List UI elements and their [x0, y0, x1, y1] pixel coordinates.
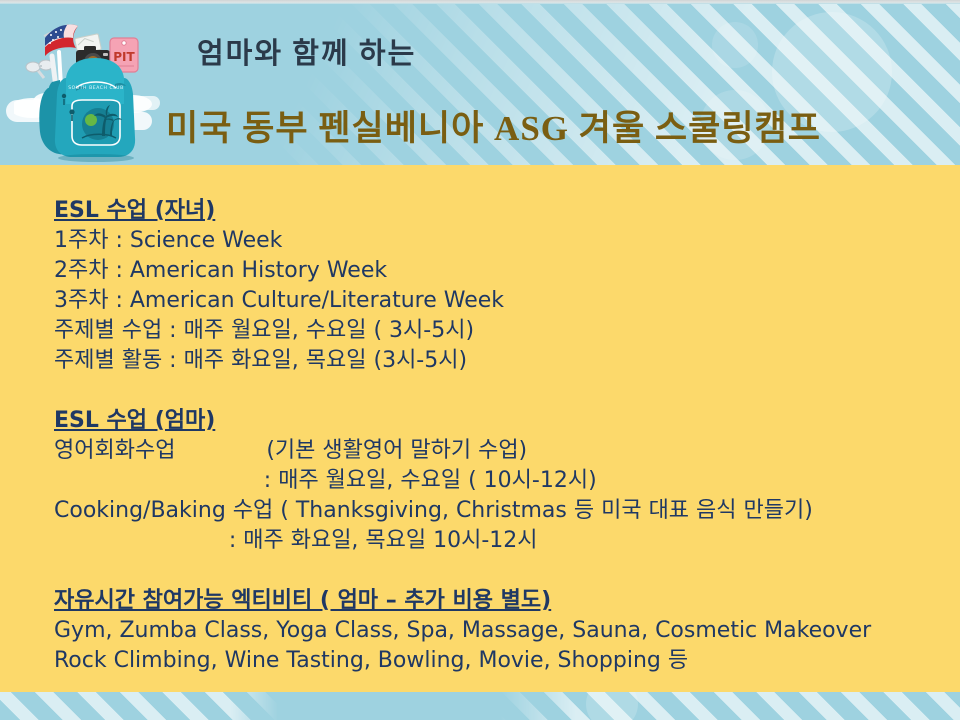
section-line: 2주차 : American History Week	[54, 256, 944, 286]
section-line: 주제별 수업 : 매주 월요일, 수요일 ( 3시-5시)	[54, 316, 944, 346]
svg-text:PIT: PIT	[113, 50, 135, 64]
section-spacer	[54, 556, 944, 586]
section-heading-esl-child: ESL 수업 (자녀)	[54, 196, 944, 226]
section-heading-esl-mom: ESL 수업 (엄마)	[54, 406, 944, 436]
presentation-slide: PIT	[0, 0, 960, 720]
section-line: Cooking/Baking 수업 ( Thanksgiving, Christ…	[54, 496, 944, 526]
decorative-circle	[712, 22, 758, 68]
section-line: Rock Climbing, Wine Tasting, Bowling, Mo…	[54, 646, 944, 676]
section-heading-free-activities: 자유시간 참여가능 엑티비티 ( 엄마 – 추가 비용 별도)	[54, 586, 944, 616]
content-block: ESL 수업 (자녀) 1주차 : Science Week 2주차 : Ame…	[54, 196, 944, 676]
section-line: 영어회화수업 (기본 생활영어 말하기 수업)	[54, 436, 944, 466]
header-band: PIT	[0, 4, 960, 165]
page-title: 미국 동부 펜실베니아 ASG 겨울 스쿨링캠프	[166, 100, 821, 151]
section-line: 1주차 : Science Week	[54, 226, 944, 256]
section-line: : 매주 화요일, 목요일 10시-12시	[54, 526, 944, 556]
decorative-circle	[586, 692, 638, 720]
body-panel: ESL 수업 (자녀) 1주차 : Science Week 2주차 : Ame…	[0, 165, 960, 692]
footer-band	[0, 692, 960, 720]
diagonal-stripe-pattern	[0, 692, 960, 720]
header-subtitle: 엄마와 함께 하는	[197, 30, 416, 72]
american-flag-icon	[44, 25, 78, 57]
section-spacer	[54, 376, 944, 406]
section-line: 3주차 : American Culture/Literature Week	[54, 286, 944, 316]
svg-text:SOUTH BEACH CLUB: SOUTH BEACH CLUB	[68, 85, 124, 91]
section-line: : 매주 월요일, 수요일 ( 10시-12시)	[54, 466, 944, 496]
travel-backpack-illustration: PIT	[14, 16, 154, 164]
section-line: 주제별 활동 : 매주 화요일, 목요일 (3시-5시)	[54, 346, 944, 376]
section-line: Gym, Zumba Class, Yoga Class, Spa, Massa…	[54, 616, 944, 646]
sunglasses-icon	[26, 60, 53, 78]
